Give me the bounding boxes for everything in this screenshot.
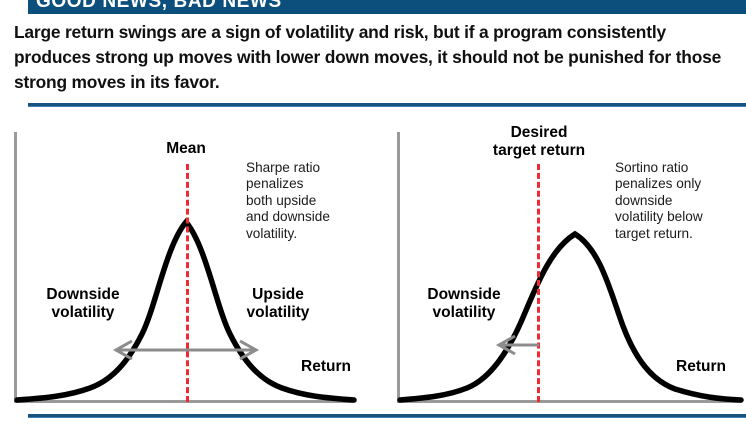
mean-label: Mean: [146, 140, 226, 158]
upside-volatility-label-line2: volatility: [228, 304, 328, 322]
upside-volatility-label-line1: Upside: [228, 286, 328, 304]
chart-sortino: Desired target return Downside volatilit…: [389, 126, 746, 408]
sortino-annotation-line2: penalizes only: [615, 176, 746, 192]
sortino-annotation-line5: target return.: [615, 226, 746, 242]
sharpe-annotation-line2: penalizes: [246, 176, 381, 192]
section-banner: GOOD NEWS, BAD NEWS: [28, 0, 746, 14]
downside-volatility-label-line2: volatility: [28, 304, 138, 322]
sortino-annotation-line1: Sortino ratio: [615, 160, 746, 176]
sharpe-annotation-line5: volatility.: [246, 226, 381, 242]
sharpe-annotation-line3: both upside: [246, 193, 381, 209]
x-axis-label-return: Return: [676, 358, 726, 376]
downside-volatility-label-line1: Downside: [409, 286, 519, 304]
divider-bottom: [28, 414, 746, 418]
downside-volatility-label-line2: volatility: [409, 304, 519, 322]
sharpe-annotation-line4: and downside: [246, 209, 381, 225]
x-axis-label-return: Return: [301, 358, 351, 376]
banner-headline: GOOD NEWS, BAD NEWS: [36, 0, 282, 13]
sortino-annotation-line3: downside: [615, 193, 746, 209]
target-return-label-line2: target return: [465, 142, 613, 160]
sortino-annotation-line4: volatility below: [615, 209, 746, 225]
deck-paragraph: Large return swings are a sign of volati…: [14, 20, 730, 95]
target-return-label-line1: Desired: [477, 124, 601, 142]
divider-top: [28, 103, 746, 107]
chart-sharpe: Mean Downside volatility Upside volatili…: [6, 126, 366, 408]
sharpe-annotation: Sharpe ratio penalizes both upside and d…: [246, 160, 381, 242]
downside-volatility-label-line1: Downside: [28, 286, 138, 304]
sortino-annotation: Sortino ratio penalizes only downside vo…: [615, 160, 746, 242]
sharpe-annotation-line1: Sharpe ratio: [246, 160, 381, 176]
infographic-page: GOOD NEWS, BAD NEWS Large return swings …: [0, 0, 746, 430]
